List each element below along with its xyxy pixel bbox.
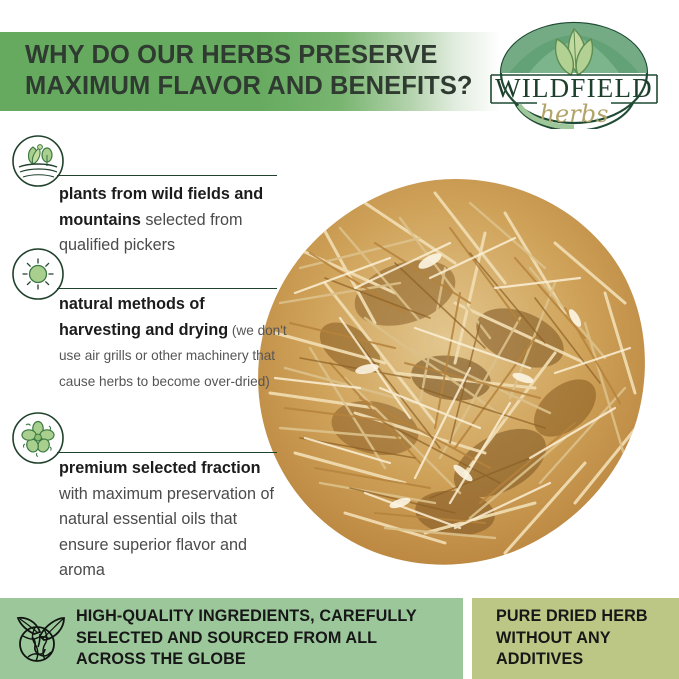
feature-item-plants: plants from wild fields and mountains se… [0, 134, 300, 190]
feature-item-drying: natural methods of harvesting and drying… [0, 247, 300, 303]
banner-left-text: HIGH-QUALITY INGREDIENTS, CAREFULLY SELE… [76, 606, 417, 671]
feature-text-rest: with maximum preservation of natural ess… [59, 485, 274, 580]
feature-text-bold: natural methods of harvesting and drying [59, 295, 228, 339]
banner-right-text: PURE DRIED HERB WITHOUT ANY ADDITIVES [496, 606, 648, 671]
logo-wordmark: WILDFIELD [495, 73, 653, 103]
brand-logo: WILDFIELD herbs [479, 17, 669, 129]
feature-text: premium selected fraction with maximum p… [59, 456, 291, 584]
feature-text-bold: premium selected fraction [59, 459, 261, 477]
product-infographic: WHY DO OUR HERBS PRESERVE MAXIMUM FLAVOR… [0, 0, 679, 679]
feature-item-fraction: premium selected fraction with maximum p… [0, 411, 300, 467]
product-photo [255, 173, 655, 573]
feature-divider [57, 288, 277, 289]
feature-divider [57, 175, 277, 176]
banner-high-quality: HIGH-QUALITY INGREDIENTS, CAREFULLY SELE… [0, 598, 463, 679]
globe-leaf-icon [10, 610, 68, 668]
feature-text: natural methods of harvesting and drying… [59, 292, 291, 394]
banner-pure-dried: PURE DRIED HERB WITHOUT ANY ADDITIVES [472, 598, 679, 679]
plants-field-icon [11, 134, 65, 188]
flower-icon [11, 411, 65, 465]
sun-icon [11, 247, 65, 301]
feature-divider [57, 452, 277, 453]
page-title: WHY DO OUR HERBS PRESERVE MAXIMUM FLAVOR… [25, 40, 495, 102]
